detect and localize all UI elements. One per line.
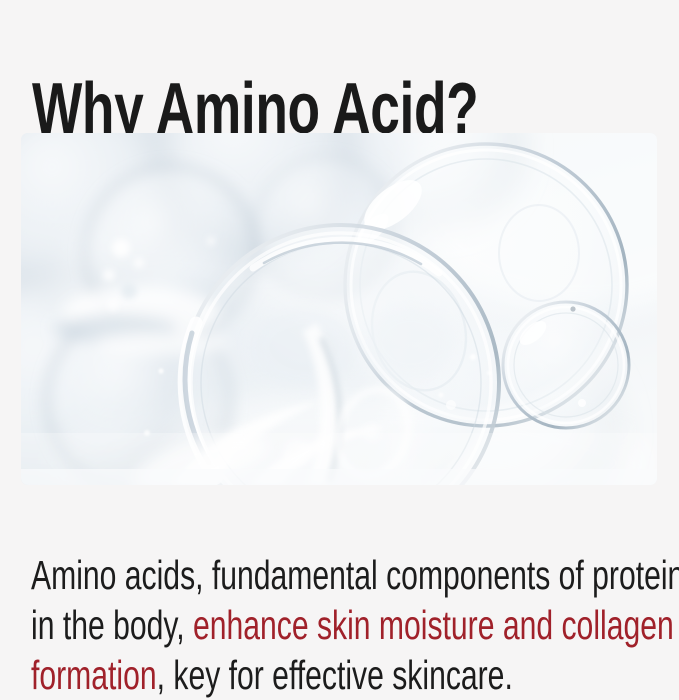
body-line-1: Amino acids, fundamental components of p… (31, 550, 472, 600)
body-line-1-segment-1: Amino acids, fundamental components of p… (31, 552, 679, 598)
body-line-3: formation, key for effective skincare. (31, 650, 472, 700)
body-line-3-segment-2: , key for effective skincare. (157, 652, 513, 698)
hero-image (21, 133, 657, 485)
body-line-2-segment-1: in the body, (31, 602, 193, 648)
body-line-2-highlight: enhance skin moisture and collagen (193, 602, 674, 648)
body-paragraph: Amino acids, fundamental components of p… (31, 550, 472, 700)
bubbles-illustration (21, 133, 657, 485)
body-line-2: in the body, enhance skin moisture and c… (31, 600, 472, 650)
marketing-infographic-page: Why Amino Acid? (0, 0, 679, 679)
body-line-3-highlight: formation (31, 652, 157, 698)
